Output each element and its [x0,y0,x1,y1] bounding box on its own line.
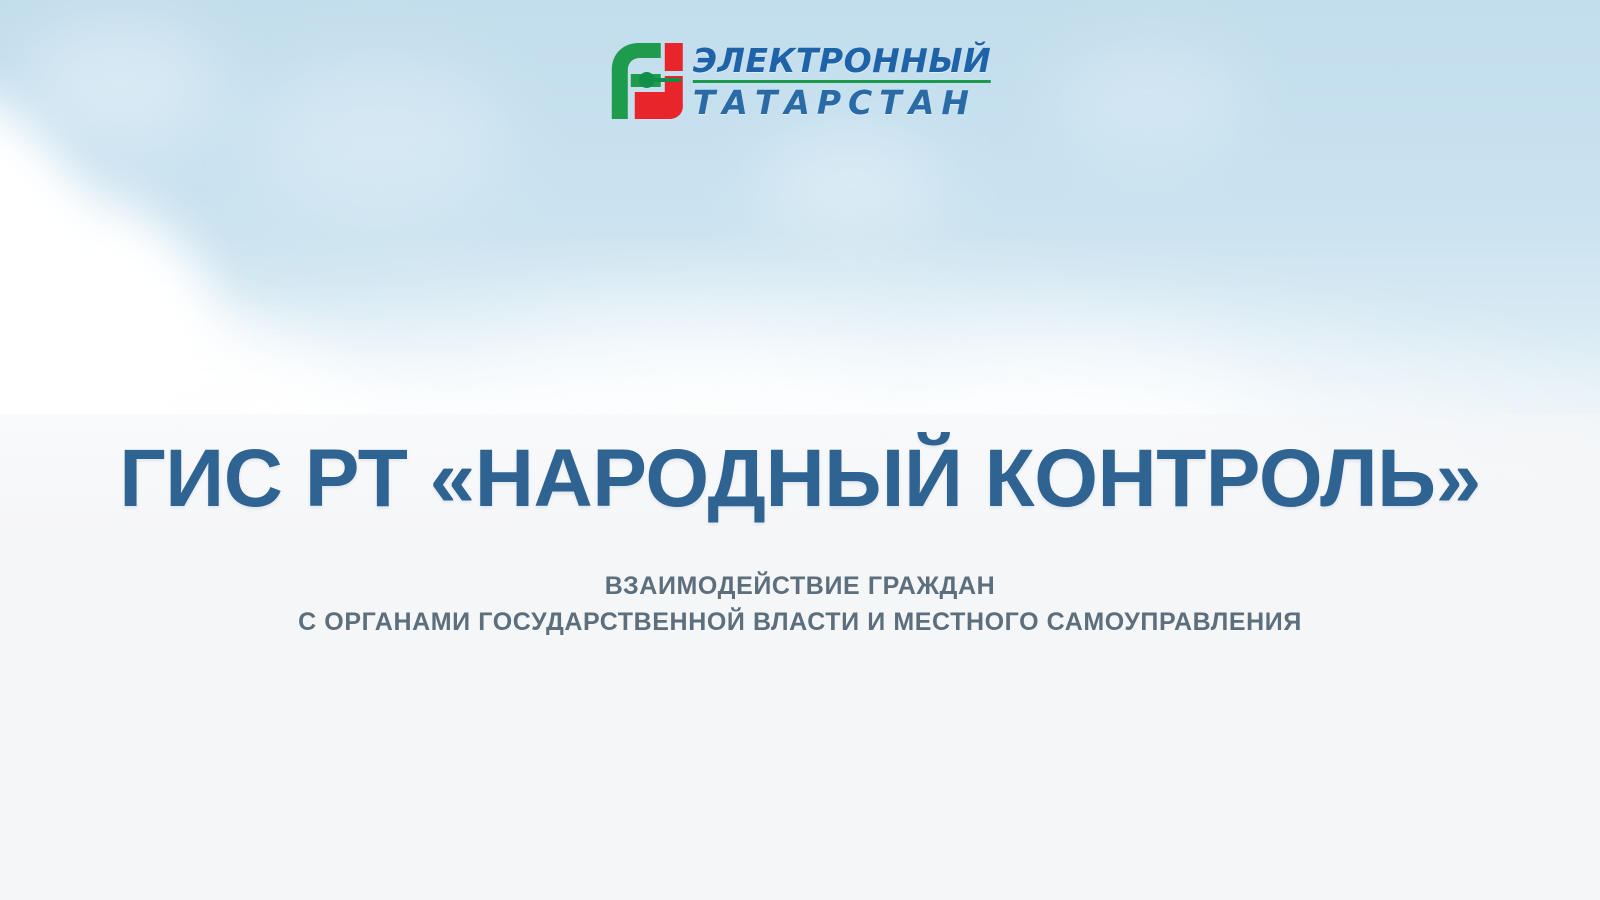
page-title: ГИС РТ «НАРОДНЫЙ КОНТРОЛЬ» [0,438,1600,520]
tatarstan-emblem-icon [609,40,687,122]
subtitle-line-1: ВЗАИМОДЕЙСТВИЕ ГРАЖДАН [0,568,1600,604]
title-slide: ЭЛЕКТРОННЫЙ ТАТАРСТАН ГИС РТ «НАРОДНЫЙ К… [0,0,1600,900]
title-text-block: ГИС РТ «НАРОДНЫЙ КОНТРОЛЬ» ВЗАИМОДЕЙСТВИ… [0,438,1600,641]
subtitle-line-2: С ОРГАНАМИ ГОСУДАРСТВЕННОЙ ВЛАСТИ И МЕСТ… [0,604,1600,640]
cloud-wisp [1050,40,1250,160]
elektronnyy-tatarstan-logo[interactable]: ЭЛЕКТРОННЫЙ ТАТАРСТАН [609,40,991,122]
logo-wordmark: ЭЛЕКТРОННЫЙ ТАТАРСТАН [693,44,991,119]
cloud-wisp [20,20,220,150]
logo-line-tatarstan: ТАТАРСТАН [693,86,991,119]
cloud-wisp [250,60,510,210]
page-subtitle: ВЗАИМОДЕЙСТВИЕ ГРАЖДАН С ОРГАНАМИ ГОСУДА… [0,568,1600,641]
cloud-wisp [760,130,940,240]
logo-line-elektronnyy: ЭЛЕКТРОННЫЙ [693,44,991,77]
